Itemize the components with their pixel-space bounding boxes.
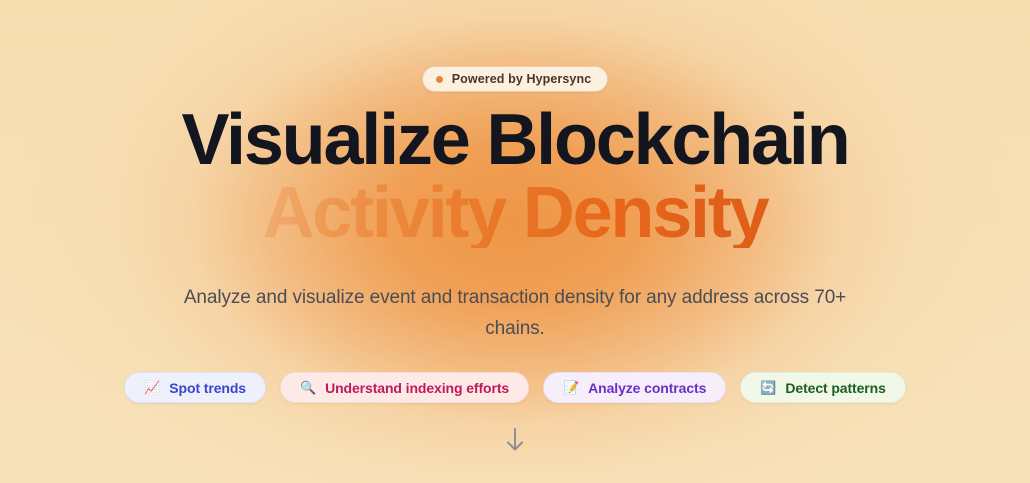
pill-label: Detect patterns (785, 380, 885, 396)
pill-label: Understand indexing efforts (325, 380, 509, 396)
pill-label: Analyze contracts (588, 380, 706, 396)
arrow-down-icon (504, 426, 526, 454)
badge-label: Powered by Hypersync (452, 72, 592, 86)
refresh-icon: 🔄 (760, 381, 776, 394)
pill-understand-indexing-efforts[interactable]: 🔍 Understand indexing efforts (280, 372, 529, 403)
feature-pill-list: 📈 Spot trends 🔍 Understand indexing effo… (124, 372, 906, 403)
hero-section: Powered by Hypersync Visualize Blockchai… (0, 0, 1030, 483)
magnifying-glass-icon: 🔍 (300, 381, 316, 394)
chart-increasing-icon: 📈 (144, 381, 160, 394)
pill-detect-patterns[interactable]: 🔄 Detect patterns (740, 372, 906, 403)
pill-label: Spot trends (169, 380, 246, 396)
memo-icon: 📝 (563, 381, 579, 394)
pill-analyze-contracts[interactable]: 📝 Analyze contracts (543, 372, 726, 403)
pill-spot-trends[interactable]: 📈 Spot trends (124, 372, 266, 403)
scroll-down-indicator[interactable] (503, 425, 527, 455)
headline-line-accent: Activity Density (182, 178, 849, 249)
page-subtitle: Analyze and visualize event and transact… (165, 282, 865, 344)
page-title: Visualize Blockchain Activity Density (182, 105, 849, 248)
powered-by-badge: Powered by Hypersync (422, 66, 609, 92)
badge-dot-icon (436, 76, 443, 83)
headline-line-primary: Visualize Blockchain (182, 105, 849, 176)
